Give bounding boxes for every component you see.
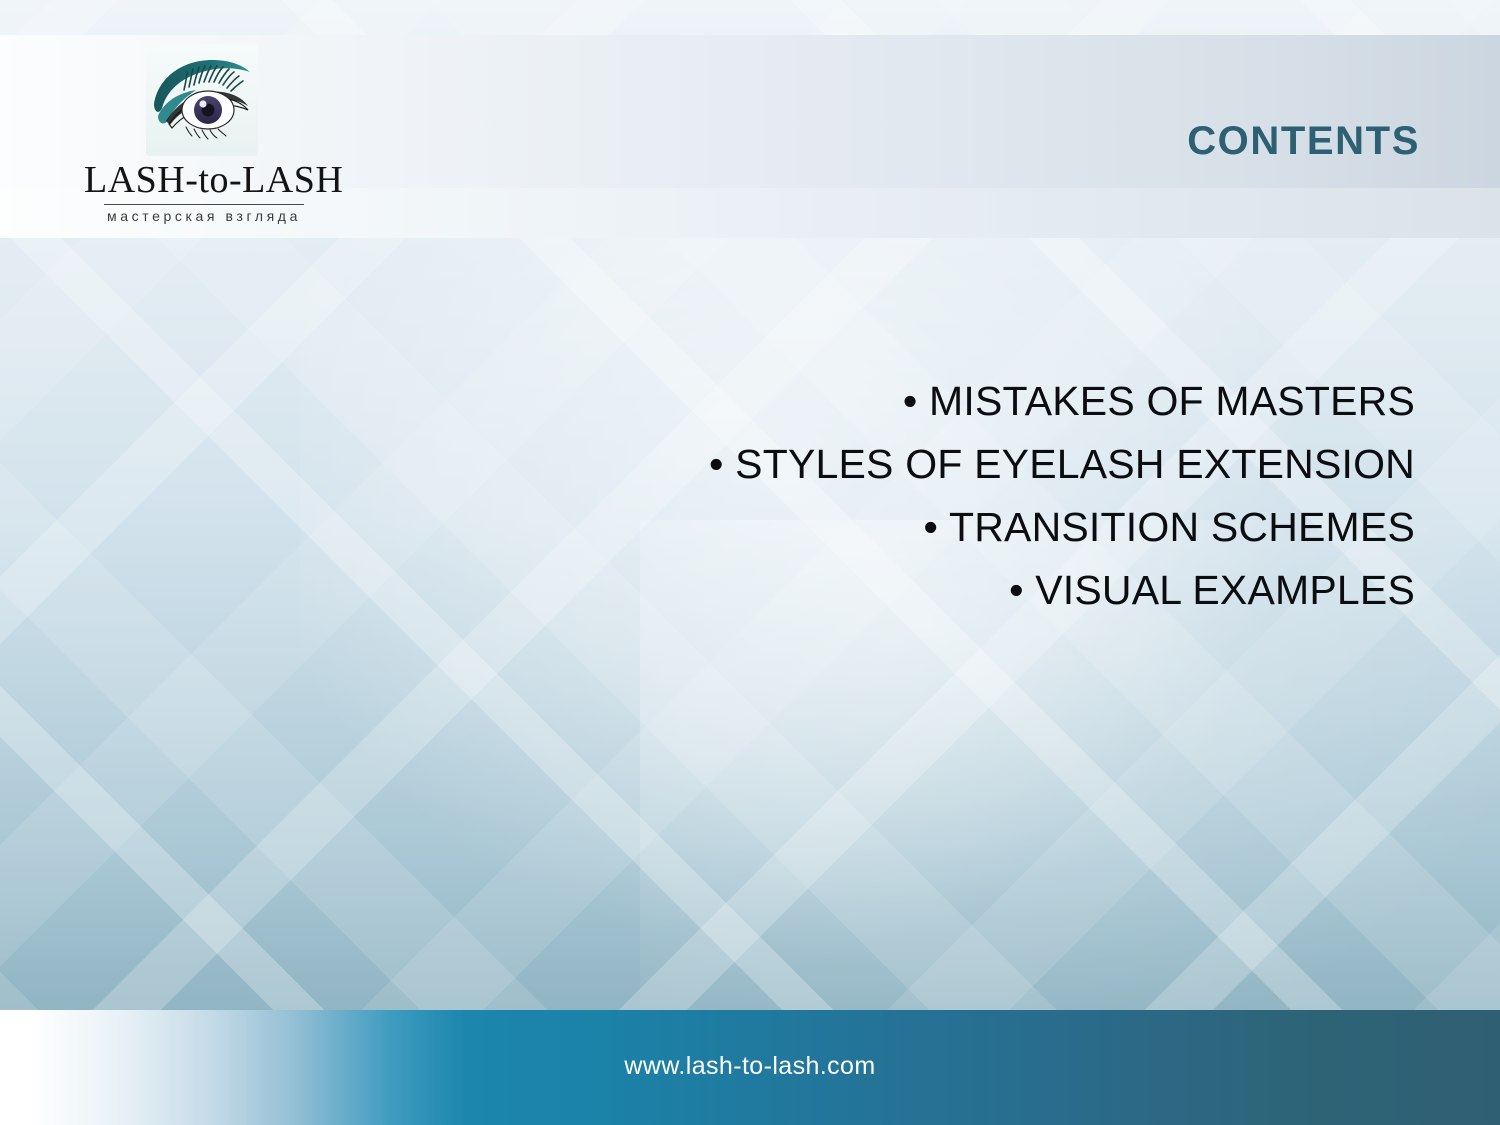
list-item-label: TRANSITION SCHEMES [949,504,1415,550]
logo-tagline: мастерская взгляда [84,208,324,224]
list-item: • TRANSITION SCHEMES [655,496,1415,559]
bullet-icon: • [903,378,918,424]
page-title: CONTENTS [1187,121,1420,161]
eye-with-lashes-icon [140,42,264,160]
contents-list: • MISTAKES OF MASTERS • STYLES OF EYELAS… [655,370,1415,622]
bullet-icon: • [709,441,724,487]
bullet-icon: • [1009,567,1024,613]
list-item-label: VISUAL EXAMPLES [1035,567,1415,613]
list-item-label: MISTAKES OF MASTERS [929,378,1415,424]
list-item-label: STYLES OF EYELASH EXTENSION [735,441,1415,487]
presentation-slide: CONTENTS [0,0,1500,1125]
logo-divider [104,204,304,205]
bullet-icon: • [924,504,939,550]
brand-logo: LASH-to-LASH мастерская взгляда [84,42,324,228]
footer-website-url[interactable]: www.lash-to-lash.com [0,1052,1500,1081]
logo-wordmark: LASH-to-LASH [84,160,324,200]
list-item: • MISTAKES OF MASTERS [655,370,1415,433]
list-item: • VISUAL EXAMPLES [655,559,1415,622]
list-item: • STYLES OF EYELASH EXTENSION [655,433,1415,496]
